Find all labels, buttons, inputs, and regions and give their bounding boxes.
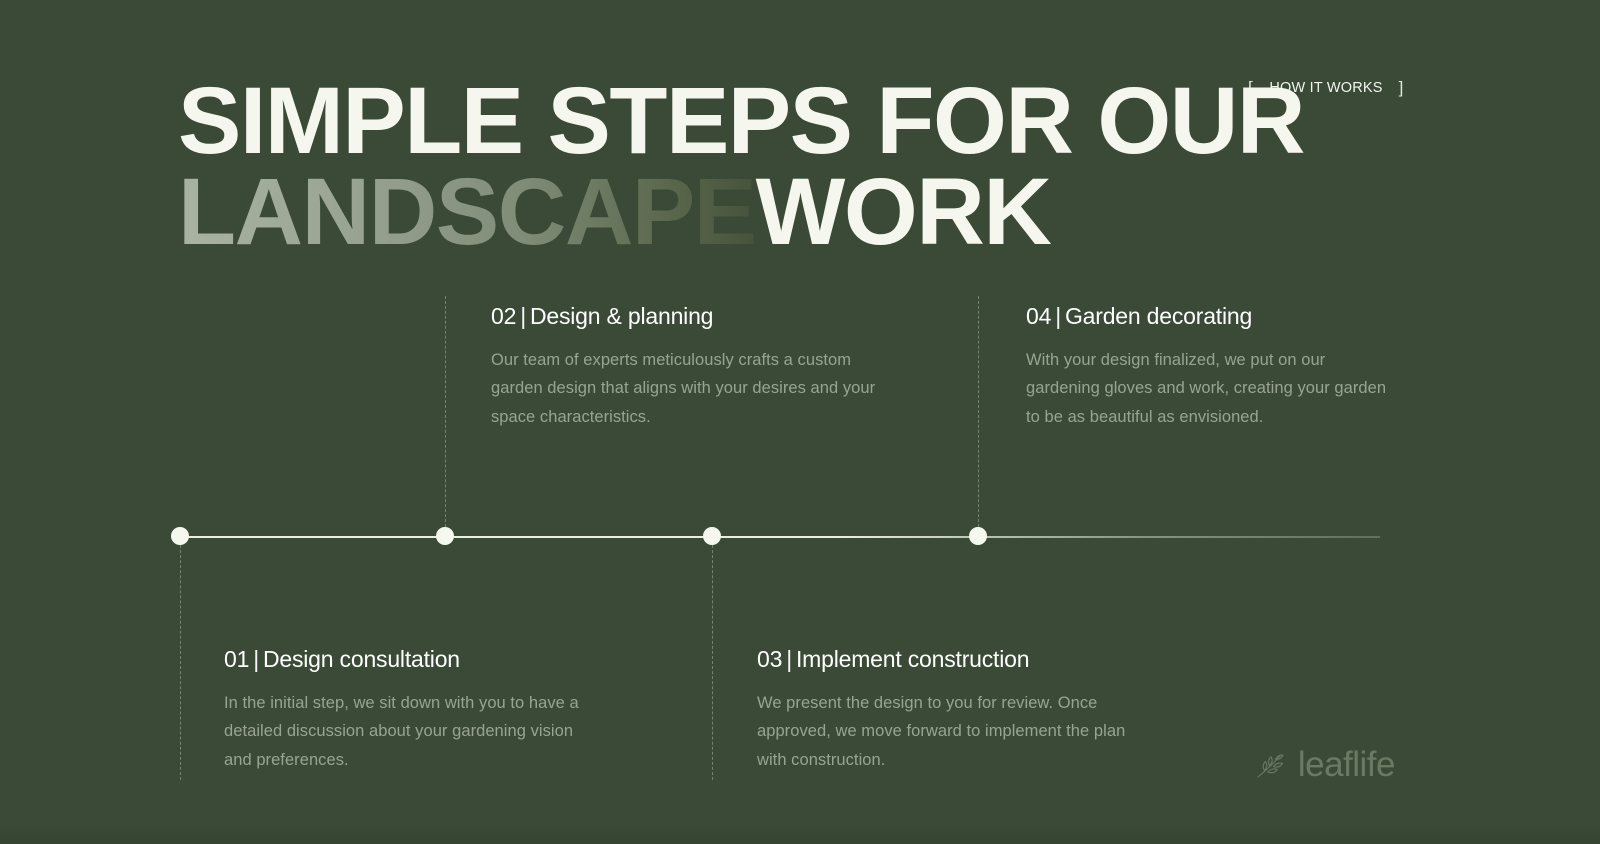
connector-line-step-2 — [445, 296, 446, 527]
timeline-dot-step-4[interactable] — [969, 527, 987, 545]
step-card-04-title: 04|Garden decorating — [1026, 303, 1396, 330]
step-card-02-label: Design & planning — [530, 303, 713, 329]
step-card-04-label: Garden decorating — [1065, 303, 1252, 329]
step-card-01-label: Design consultation — [263, 646, 460, 672]
step-card-04-separator: | — [1051, 303, 1065, 329]
bracket-right: ] — [1399, 78, 1404, 98]
headline-gradient-word: LANDSCAPE — [178, 159, 756, 265]
timeline-dot-step-1[interactable] — [171, 527, 189, 545]
step-card-02-number: 02 — [491, 303, 516, 329]
step-card-01-title: 01|Design consultation — [224, 646, 599, 673]
connector-line-step-1 — [180, 545, 181, 780]
step-card-03: 03|Implement construction We present the… — [757, 646, 1132, 774]
bottom-edge-shade — [0, 822, 1600, 844]
leaf-branch-icon — [1255, 750, 1289, 780]
step-card-02-separator: | — [516, 303, 530, 329]
step-card-03-number: 03 — [757, 646, 782, 672]
brand-wordmark: leaflife — [1298, 747, 1395, 782]
step-card-04: 04|Garden decorating With your design fi… — [1026, 303, 1396, 431]
timeline-dot-step-2[interactable] — [436, 527, 454, 545]
step-card-03-description: We present the design to you for review.… — [757, 689, 1132, 774]
headline-line-1: SIMPLE STEPS FOR OUR — [178, 76, 1304, 167]
step-card-03-label: Implement construction — [796, 646, 1029, 672]
step-card-04-number: 04 — [1026, 303, 1051, 329]
brand-logo[interactable]: leaflife — [1255, 747, 1395, 782]
timeline-dot-step-3[interactable] — [703, 527, 721, 545]
step-card-01-number: 01 — [224, 646, 249, 672]
connector-line-step-4 — [978, 296, 979, 527]
headline-line-2: LANDSCAPEWORK — [178, 167, 1304, 258]
step-card-03-title: 03|Implement construction — [757, 646, 1132, 673]
step-card-04-description: With your design finalized, we put on ou… — [1026, 346, 1396, 431]
connector-line-step-3 — [712, 545, 713, 780]
step-card-03-separator: | — [782, 646, 796, 672]
step-card-01-description: In the initial step, we sit down with yo… — [224, 689, 599, 774]
slide-canvas: [ HOW IT WORKS ] SIMPLE STEPS FOR OUR LA… — [0, 0, 1600, 844]
step-card-02-title: 02|Design & planning — [491, 303, 886, 330]
step-card-01: 01|Design consultation In the initial st… — [224, 646, 599, 774]
timeline-axis — [180, 536, 1380, 538]
step-card-02-description: Our team of experts meticulously crafts … — [491, 346, 886, 431]
step-card-02: 02|Design & planning Our team of experts… — [491, 303, 886, 431]
headline-solid-word: WORK — [756, 159, 1051, 265]
step-card-01-separator: | — [249, 646, 263, 672]
page-title: SIMPLE STEPS FOR OUR LANDSCAPEWORK — [178, 76, 1304, 258]
